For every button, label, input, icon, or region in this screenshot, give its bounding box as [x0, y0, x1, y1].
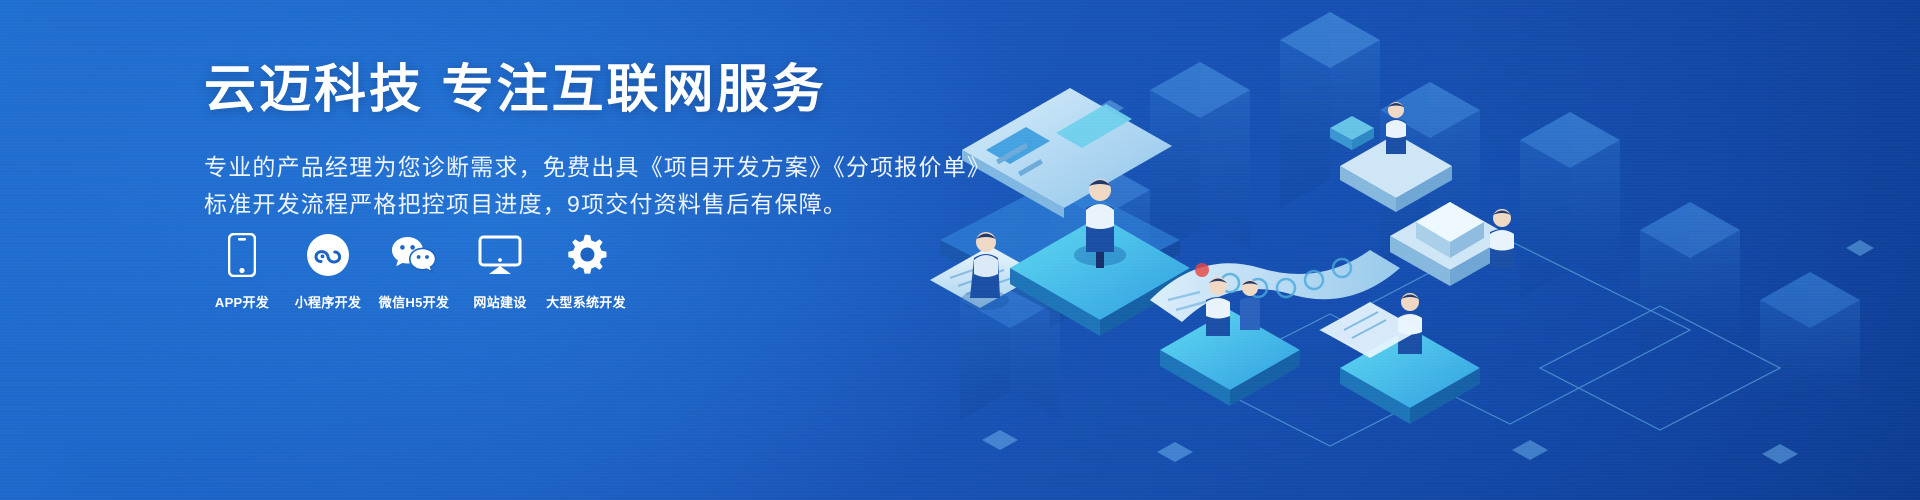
service-item-app[interactable]: APP开发	[206, 232, 278, 311]
service-label-miniprogram: 小程序开发	[295, 292, 362, 311]
service-item-miniprogram[interactable]: 小程序开发	[292, 232, 364, 311]
service-label-website: 网站建设	[473, 292, 526, 311]
monitor-icon	[478, 232, 522, 278]
gear-icon	[564, 232, 608, 278]
service-list: APP开发 小程序开发	[206, 232, 636, 311]
service-item-website[interactable]: 网站建设	[464, 232, 536, 311]
banner-subtitle-line-2: 标准开发流程严格把控项目进度，9项交付资料售后有保障。	[204, 186, 1104, 223]
service-label-wechat-h5: 微信H5开发	[379, 292, 449, 311]
hero-banner: 云迈科技 专注互联网服务 专业的产品经理为您诊断需求，免费出具《项目开发方案》《…	[0, 0, 1920, 500]
person-figure-right	[1490, 209, 1514, 268]
service-item-large-system[interactable]: 大型系统开发	[550, 232, 622, 311]
page-title: 云迈科技 专注互联网服务	[204, 62, 1104, 119]
service-label-app: APP开发	[215, 292, 269, 311]
mini-program-icon	[307, 232, 349, 278]
banner-text-block: 云迈科技 专注互联网服务 专业的产品经理为您诊断需求，免费出具《项目开发方案》《…	[204, 62, 1104, 224]
mobile-phone-icon	[228, 232, 256, 278]
wechat-icon	[391, 232, 437, 278]
service-item-wechat-h5[interactable]: 微信H5开发	[378, 232, 450, 311]
service-label-large-system: 大型系统开发	[546, 292, 626, 311]
banner-subtitle-line-1: 专业的产品经理为您诊断需求，免费出具《项目开发方案》《分项报价单》	[204, 149, 1104, 186]
